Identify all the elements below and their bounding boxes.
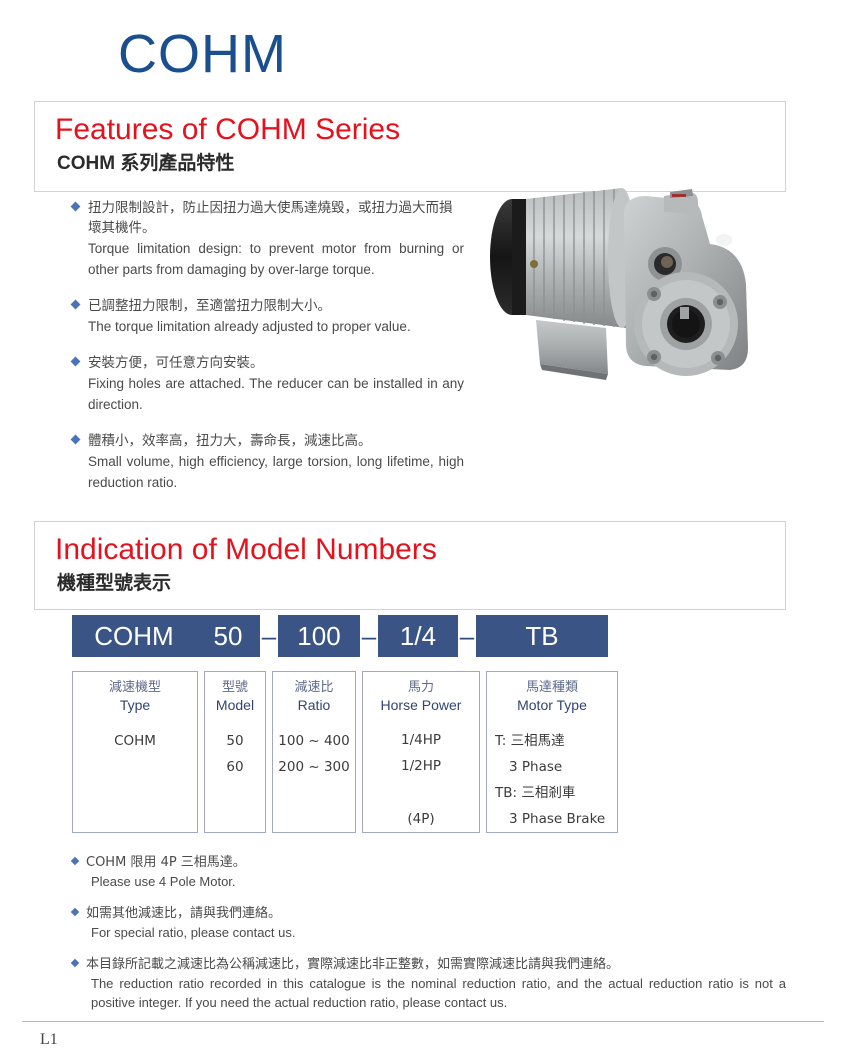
column-header-zh: 馬達種類 bbox=[526, 679, 578, 696]
diamond-bullet-icon bbox=[71, 435, 81, 445]
spec-value: 1/4HP bbox=[401, 727, 441, 753]
code-dash-2: – bbox=[360, 621, 378, 652]
column-header-en: Ratio bbox=[298, 696, 331, 714]
column-header-zh: 馬力 bbox=[408, 679, 434, 696]
feature-text-en: Fixing holes are attached. The reducer c… bbox=[88, 373, 464, 415]
model-title-zh: 機種型號表示 bbox=[57, 574, 171, 593]
feature-text-zh: 體積小，效率高，扭力大，壽命長，減速比高。 bbox=[88, 431, 464, 451]
feature-item: 安裝方便，可任意方向安裝。 Fixing holes are attached.… bbox=[72, 353, 464, 415]
model-section-header: Indication of Model Numbers 機種型號表示 bbox=[34, 521, 786, 610]
diamond-bullet-icon bbox=[71, 857, 79, 865]
spec-column-ratio: 減速比 Ratio 100 ~ 400 200 ~ 300 bbox=[272, 671, 356, 833]
spec-value: 200 ~ 300 bbox=[278, 754, 349, 780]
notes-list: COHM 限用 4P 三相馬達。 Please use 4 Pole Motor… bbox=[72, 853, 786, 1025]
code-box-ratio: 100 bbox=[278, 615, 360, 657]
feature-text-zh: 安裝方便，可任意方向安裝。 bbox=[88, 353, 464, 373]
spec-value: 3 Phase bbox=[487, 754, 562, 780]
feature-item: 體積小，效率高，扭力大，壽命長，減速比高。 Small volume, high… bbox=[72, 431, 464, 493]
diamond-bullet-icon bbox=[71, 959, 79, 967]
feature-item: 扭力限制設計，防止因扭力過大使馬達燒毀，或扭力過大而損壞其機件。 Torque … bbox=[72, 198, 464, 280]
feature-text-en: The torque limitation already adjusted t… bbox=[88, 316, 464, 337]
code-box-motor-type: TB bbox=[476, 615, 608, 657]
features-title-en: Features of COHM Series bbox=[55, 115, 400, 145]
spec-value: 60 bbox=[226, 754, 243, 780]
spec-value: 100 ~ 400 bbox=[278, 728, 349, 754]
code-dash-1: – bbox=[260, 621, 278, 652]
column-header-en: Horse Power bbox=[381, 696, 462, 714]
note-item: 如需其他減速比，請與我們連絡。 For special ratio, pleas… bbox=[72, 904, 786, 942]
features-list: 扭力限制設計，防止因扭力過大使馬達燒毀，或扭力過大而損壞其機件。 Torque … bbox=[72, 198, 464, 509]
features-title-zh: COHM 系列產品特性 bbox=[57, 154, 234, 173]
spec-value: TB: 三相剎車 bbox=[487, 780, 575, 806]
footer-divider bbox=[22, 1021, 824, 1022]
note-text-en: For special ratio, please contact us. bbox=[86, 923, 786, 942]
diamond-bullet-icon bbox=[71, 300, 81, 310]
code-box-type: COHM bbox=[72, 615, 196, 657]
diamond-bullet-icon bbox=[71, 202, 81, 212]
column-header-en: Motor Type bbox=[517, 696, 587, 714]
spec-value: T: 三相馬達 bbox=[487, 728, 565, 754]
spec-column-type: 減速機型 Type COHM bbox=[72, 671, 198, 833]
page-number: L1 bbox=[40, 1031, 58, 1049]
model-title-en: Indication of Model Numbers bbox=[55, 535, 437, 565]
feature-item: 已調整扭力限制，至適當扭力限制大小。 The torque limitation… bbox=[72, 296, 464, 337]
feature-text-en: Small volume, high efficiency, large tor… bbox=[88, 451, 464, 493]
spec-value: 3 Phase Brake bbox=[487, 806, 605, 832]
note-item: 本目錄所記載之減速比為公稱減速比，實際減速比非正整數，如需實際減速比請與我們連絡… bbox=[72, 955, 786, 1012]
column-header-en: Model bbox=[216, 696, 254, 714]
spec-column-model: 型號 Model 50 60 bbox=[204, 671, 266, 833]
spec-value: 50 bbox=[226, 728, 243, 754]
diamond-bullet-icon bbox=[71, 908, 79, 916]
code-dash-3: – bbox=[458, 621, 476, 652]
spec-column-motor-type: 馬達種類 Motor Type T: 三相馬達 3 Phase TB: 三相剎車… bbox=[486, 671, 618, 833]
spec-table: 減速機型 Type COHM 型號 Model 50 60 減速比 Ratio … bbox=[72, 671, 624, 833]
note-text-en: The reduction ratio recorded in this cat… bbox=[86, 974, 786, 1012]
note-text-zh: 如需其他減速比，請與我們連絡。 bbox=[86, 904, 786, 923]
spec-footnote: (4P) bbox=[407, 806, 434, 832]
spec-column-horsepower: 馬力 Horse Power 1/4HP 1/2HP (4P) bbox=[362, 671, 480, 833]
note-item: COHM 限用 4P 三相馬達。 Please use 4 Pole Motor… bbox=[72, 853, 786, 891]
feature-text-zh: 已調整扭力限制，至適當扭力限制大小。 bbox=[88, 296, 464, 316]
code-box-model: 50 bbox=[196, 615, 260, 657]
product-photo bbox=[474, 152, 792, 402]
model-code-row: COHM 50 – 100 – 1/4 – TB bbox=[72, 615, 608, 657]
feature-text-zh: 扭力限制設計，防止因扭力過大使馬達燒毀，或扭力過大而損壞其機件。 bbox=[88, 198, 464, 238]
code-box-horsepower: 1/4 bbox=[378, 615, 458, 657]
column-header-zh: 減速機型 bbox=[109, 679, 161, 696]
note-text-en: Please use 4 Pole Motor. bbox=[86, 872, 786, 891]
catalog-page: COHM Features of COHM Series COHM 系列產品特性 bbox=[0, 0, 846, 1060]
diamond-bullet-icon bbox=[71, 357, 81, 367]
note-text-zh: COHM 限用 4P 三相馬達。 bbox=[86, 853, 786, 872]
spec-value: COHM bbox=[114, 728, 156, 754]
feature-text-en: Torque limitation design: to prevent mot… bbox=[88, 238, 464, 280]
note-text-zh: 本目錄所記載之減速比為公稱減速比，實際減速比非正整數，如需實際減速比請與我們連絡… bbox=[86, 955, 786, 974]
brand-title: COHM bbox=[118, 27, 287, 81]
column-header-en: Type bbox=[120, 696, 150, 714]
spec-value: 1/2HP bbox=[401, 753, 441, 779]
column-header-zh: 減速比 bbox=[294, 679, 333, 696]
column-header-zh: 型號 bbox=[222, 679, 248, 696]
